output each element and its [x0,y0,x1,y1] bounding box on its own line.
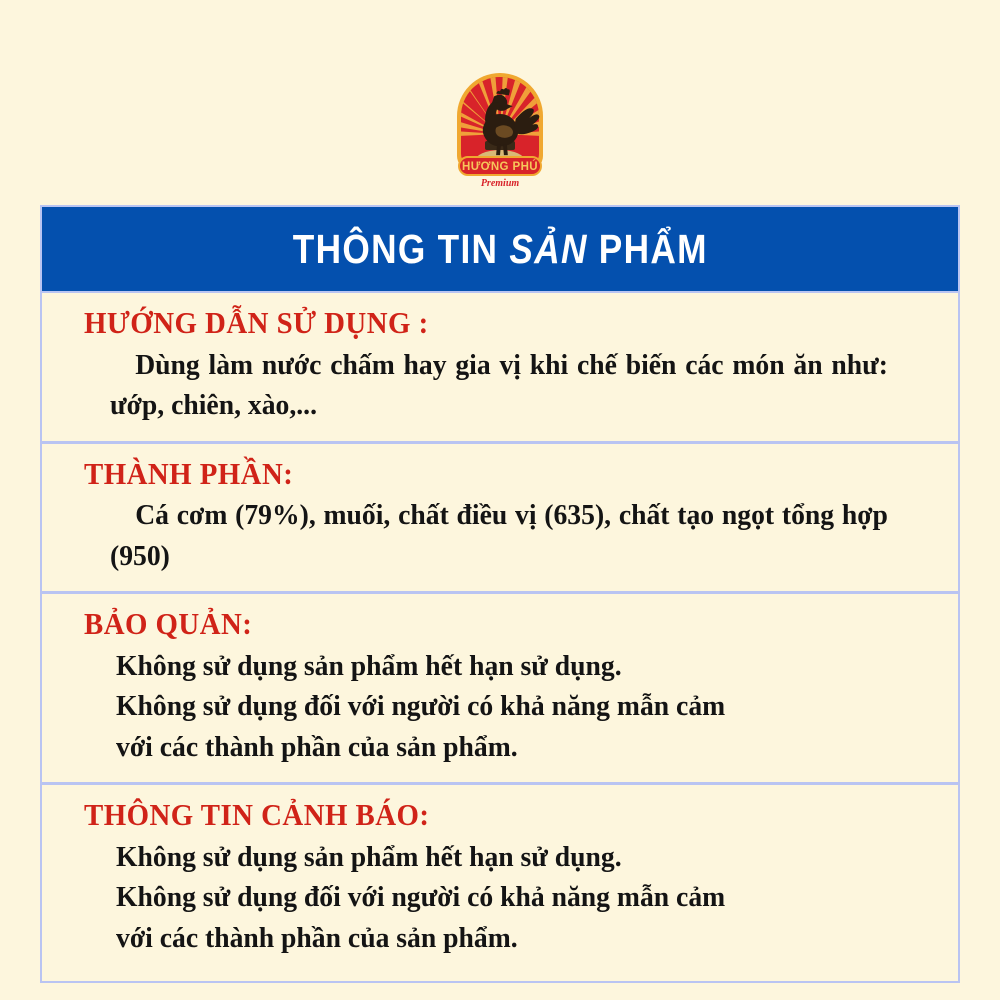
info-row-warning: THÔNG TIN CẢNH BÁO: Không sử dụng sản ph… [42,785,958,981]
product-info-card: THÔNG TIN SẢN PHẨM HƯỚNG DẪN SỬ DỤNG : D… [40,205,960,983]
banner-title-part1: THÔNG TIN [292,226,509,272]
logo-tagline: Premium [481,178,520,189]
section-body-usage: Dùng làm nước chấm hay gia vị khi chế bi… [110,346,888,427]
brand-logo: HƯƠNG PHÚ Premium [0,72,1000,190]
banner-title: THÔNG TIN SẢN PHẨM [292,229,707,270]
svg-text:HƯƠNG PHÚ: HƯƠNG PHÚ [462,160,538,173]
info-row-ingredients: THÀNH PHẦN: Cá cơm (79%), muối, chất điề… [42,444,958,595]
section-line: Không sử dụng sản phẩm hết hạn sử dụng. [116,838,890,878]
banner-title-part2: PHẨM [587,226,707,272]
section-line: với các thành phần của sản phẩm. [116,728,890,768]
product-info-banner: THÔNG TIN SẢN PHẨM [40,205,960,293]
section-body-warning: Không sử dụng sản phẩm hết hạn sử dụng. … [116,838,890,959]
section-heading-storage: BẢO QUẢN: [84,606,876,643]
banner-title-italic: SẢN [509,226,587,272]
section-line: Không sử dụng đối với người có khả năng … [116,878,890,918]
section-line: Không sử dụng đối với người có khả năng … [116,687,890,727]
section-heading-warning: THÔNG TIN CẢNH BÁO: [84,797,876,834]
rooster-badge-icon: HƯƠNG PHÚ Premium [449,72,551,190]
section-line: Dùng làm nước chấm hay gia vị khi chế bi… [110,346,888,427]
info-rows: HƯỚNG DẪN SỬ DỤNG : Dùng làm nước chấm h… [40,293,960,983]
section-line: với các thành phần của sản phẩm. [116,919,890,959]
section-line: Cá cơm (79%), muối, chất điều vị (635), … [110,496,888,577]
info-row-usage: HƯỚNG DẪN SỬ DỤNG : Dùng làm nước chấm h… [42,293,958,444]
product-info-page: HƯƠNG PHÚ Premium THÔNG TIN SẢN PHẨM HƯỚ… [0,0,1000,1000]
section-heading-usage: HƯỚNG DẪN SỬ DỤNG : [84,305,876,342]
section-body-ingredients: Cá cơm (79%), muối, chất điều vị (635), … [110,496,888,577]
logo-name-banner: HƯƠNG PHÚ [459,157,541,175]
section-line: Không sử dụng sản phẩm hết hạn sử dụng. [116,647,890,687]
section-body-storage: Không sử dụng sản phẩm hết hạn sử dụng. … [116,647,890,768]
huong-phu-logo-badge: HƯƠNG PHÚ Premium [449,72,551,190]
info-row-storage: BẢO QUẢN: Không sử dụng sản phẩm hết hạn… [42,594,958,785]
section-heading-ingredients: THÀNH PHẦN: [84,456,876,493]
